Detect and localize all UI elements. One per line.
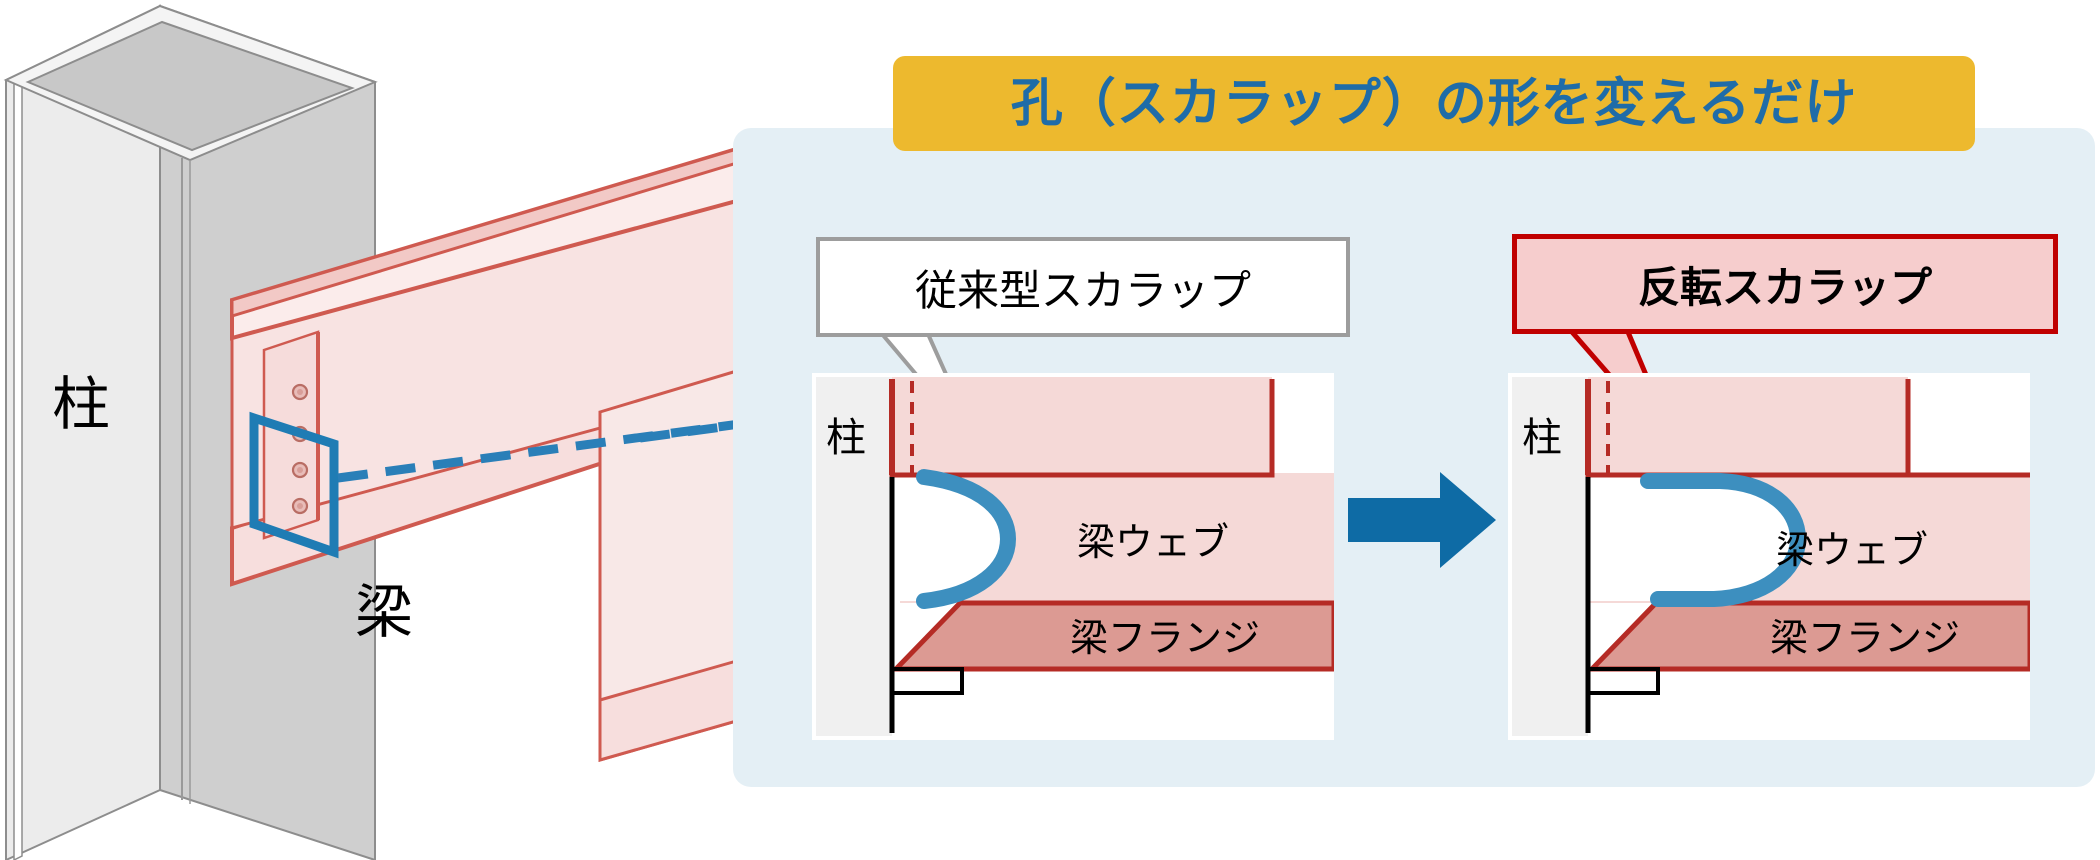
right-arrow-icon [1348, 472, 1496, 568]
detail-label-web-conventional: 梁ウェブ [1077, 522, 1229, 564]
label-column-3d: 柱 [52, 357, 110, 441]
detail-label-web-reversed: 梁ウェブ [1776, 530, 1928, 572]
callout-reversed: 反転スカラップ [1512, 234, 2058, 334]
detail-panel-conventional: 柱 梁ウェブ 梁フランジ [812, 373, 1334, 740]
callout-conventional-label: 従来型スカラップ [915, 257, 1251, 318]
callout-conventional: 従来型スカラップ [816, 237, 1350, 337]
title-banner-text: 孔（スカラップ）の形を変えるだけ [1011, 78, 1857, 130]
detail-label-column-conventional: 柱 [826, 416, 866, 460]
detail-label-column-reversed: 柱 [1522, 416, 1562, 460]
callout-reversed-label: 反転スカラップ [1638, 254, 1932, 315]
detail-label-flange-reversed: 梁フランジ [1770, 618, 1960, 660]
label-beam-3d: 梁 [355, 565, 413, 649]
title-banner: 孔（スカラップ）の形を変えるだけ [893, 56, 1975, 151]
detail-panel-reversed: 柱 梁ウェブ 梁フランジ [1508, 373, 2030, 740]
column-beam-3d-illustration [0, 0, 740, 860]
detail-label-flange-conventional: 梁フランジ [1070, 618, 1260, 660]
